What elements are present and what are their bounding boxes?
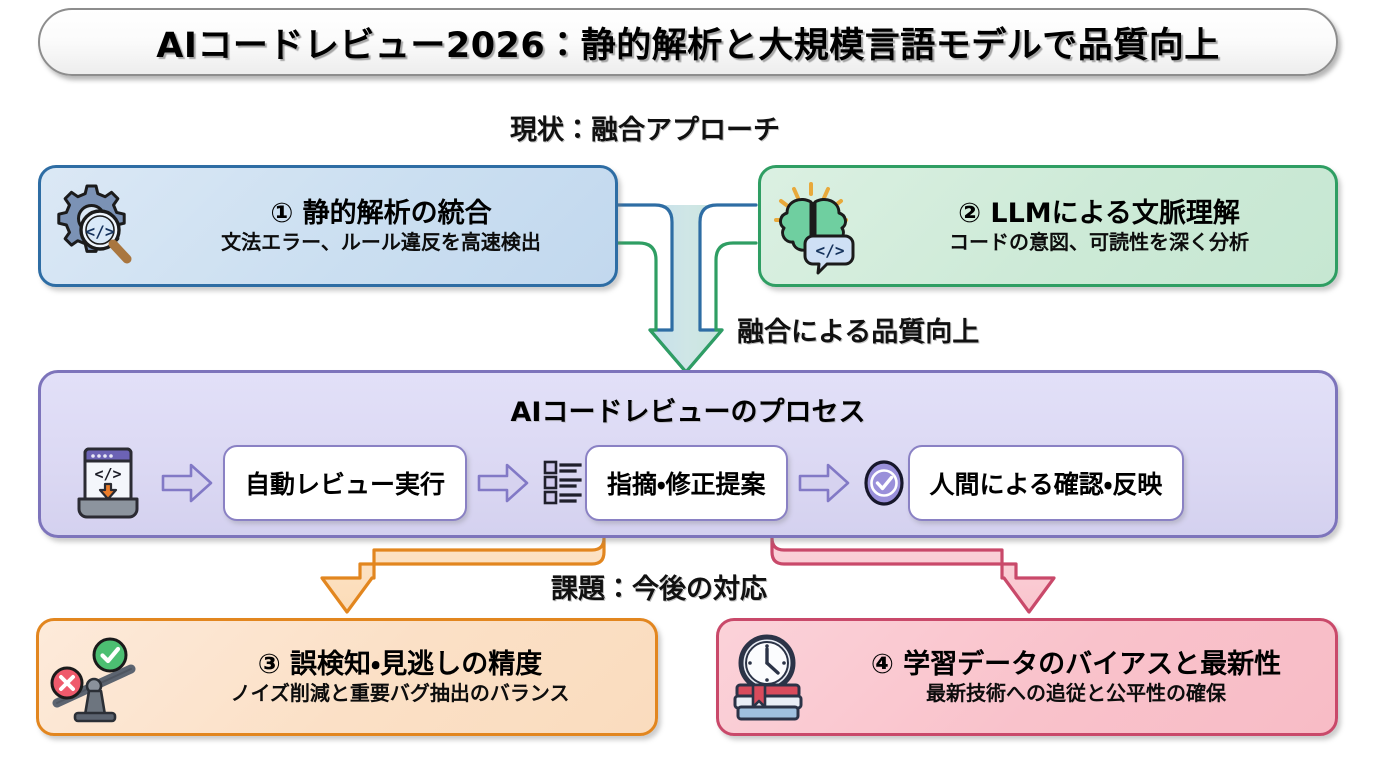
checklist-icon: [539, 458, 585, 508]
step-chip-auto-review[interactable]: 自動レビュー実行: [223, 445, 467, 521]
card-data-bias-heading: ④ 学習データのバイアスと最新性: [871, 649, 1281, 681]
connector-llm-to-process: [618, 243, 756, 372]
svg-text:</>: </>: [86, 222, 115, 241]
step-chip-human-review[interactable]: 人間による確認・反映: [908, 445, 1185, 521]
caption-merge-quality: 融合による品質向上: [737, 310, 979, 349]
infographic-canvas: AIコードレビュー2026：静的解析と大規模言語モデルで品質向上 現状：融合アプ…: [0, 0, 1376, 768]
card-detection-accuracy: ③ 誤検知・見逃しの精度 ノイズ削減と重要バグ抽出のバランス: [36, 618, 658, 736]
check-circle-icon: [860, 459, 908, 507]
connector-static-to-process: [618, 205, 756, 372]
clock-books-icon: [719, 631, 823, 723]
brain-code-bubble-icon: </>: [761, 180, 869, 272]
page-title-banner: AIコードレビュー2026：静的解析と大規模言語モデルで品質向上: [38, 8, 1338, 76]
card-llm-context-heading: ② LLMによる文脈理解: [958, 198, 1240, 230]
balance-scale-check-cross-icon: [39, 631, 151, 723]
card-static-analysis-body: ① 静的解析の統合 文法エラー、ルール違反を高速検出: [153, 198, 615, 254]
svg-text:</>: </>: [94, 465, 121, 483]
card-data-bias: ④ 学習データのバイアスと最新性 最新技術への追従と公平性の確保: [716, 618, 1338, 736]
connector-process-to-bias: [772, 538, 1054, 612]
flow-arrow-2: [477, 463, 529, 503]
process-title: AIコードレビューのプロセス: [41, 390, 1335, 429]
card-llm-context: </> ② LLMによる文脈理解 コードの意図、可読性を深く分析: [758, 165, 1338, 287]
card-llm-context-body: ② LLMによる文脈理解 コードの意図、可読性を深く分析: [869, 198, 1335, 254]
card-data-bias-subtext: 最新技術への追従と公平性の確保: [926, 681, 1226, 705]
card-llm-context-subtext: コードの意図、可読性を深く分析: [949, 230, 1249, 254]
process-steps-row: </> 自動レビュー実行: [65, 438, 1311, 528]
step-chip-suggestions[interactable]: 指摘・修正提案: [585, 445, 788, 521]
card-detection-accuracy-body: ③ 誤検知・見逃しの精度 ノイズ削減と重要バグ抽出のバランス: [151, 649, 655, 705]
card-static-analysis: </> ① 静的解析の統合 文法エラー、ルール違反を高速検出: [38, 165, 618, 287]
process-container: AIコードレビューのプロセス </>: [38, 370, 1338, 538]
step-label-suggestions: 指摘・修正提案: [607, 465, 766, 501]
step-label-human-review: 人間による確認・反映: [930, 465, 1163, 501]
caption-future-issues: 課題：今後の対応: [551, 567, 767, 606]
caption-current-approach: 現状：融合アプローチ: [510, 108, 780, 147]
flow-arrow-1: [161, 463, 213, 503]
card-static-analysis-heading: ① 静的解析の統合: [270, 198, 491, 230]
card-detection-accuracy-subtext: ノイズ削減と重要バグ抽出のバランス: [231, 681, 570, 705]
svg-text:</>: </>: [816, 241, 845, 260]
gear-magnifier-code-icon: </>: [41, 180, 153, 272]
code-upload-window-icon: </>: [65, 445, 151, 521]
step-label-auto-review: 自動レビュー実行: [245, 465, 445, 501]
card-detection-accuracy-heading: ③ 誤検知・見逃しの精度: [258, 649, 542, 681]
card-static-analysis-subtext: 文法エラー、ルール違反を高速検出: [221, 230, 541, 254]
card-data-bias-body: ④ 学習データのバイアスと最新性 最新技術への追従と公平性の確保: [823, 649, 1335, 705]
page-title: AIコードレビュー2026：静的解析と大規模言語モデルで品質向上: [156, 17, 1220, 68]
flow-arrow-3: [798, 463, 850, 503]
